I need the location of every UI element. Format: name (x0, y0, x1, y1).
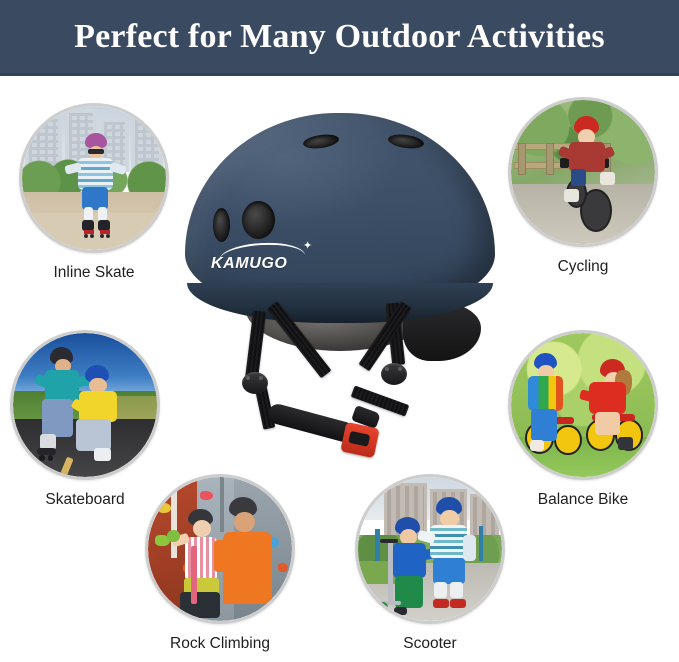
brand-logo: ✦ KAMUGO (211, 241, 331, 277)
activity-label-rock-climbing: Rock Climbing (145, 635, 295, 653)
activity-label-skateboard: Skateboard (10, 491, 160, 509)
logo-star-icon: ✦ (303, 241, 312, 252)
activity-cycling: Cycling (508, 97, 658, 276)
activity-label-scooter: Scooter (355, 635, 505, 653)
buckle-slot (348, 431, 370, 447)
activity-photo-skateboard (10, 330, 160, 480)
product-helmet-image: ✦ KAMUGO (175, 95, 505, 485)
strap-y-adjuster-front (242, 372, 268, 394)
activity-photo-balance-bike (508, 330, 658, 480)
activity-inline-skate: Inline Skate (19, 103, 169, 282)
activity-photo-rock-climbing (145, 474, 295, 624)
activity-label-cycling: Cycling (508, 258, 658, 276)
quick-release-buckle (340, 422, 379, 458)
helmet-vent-side-rear (242, 201, 275, 239)
page-title: Perfect for Many Outdoor Activities (74, 20, 605, 54)
helmet-vent-side-front (213, 208, 230, 242)
activity-photo-scooter (355, 474, 505, 624)
helmet-vent-crown-right (387, 133, 424, 151)
activity-label-inline-skate: Inline Skate (19, 264, 169, 282)
activity-photo-cycling (508, 97, 658, 247)
chin-strap-front-upper (245, 310, 266, 381)
activity-label-balance-bike: Balance Bike (508, 491, 658, 509)
brand-name: KAMUGO (211, 255, 287, 273)
header-banner: Perfect for Many Outdoor Activities (0, 0, 679, 76)
activity-rock-climbing: Rock Climbing (145, 474, 295, 653)
activity-balance-bike: Balance Bike (508, 330, 658, 509)
helmet-vent-crown-left (302, 133, 339, 151)
strap-y-adjuster-rear (381, 363, 407, 385)
activity-skateboard: Skateboard (10, 330, 160, 509)
activity-photo-inline-skate (19, 103, 169, 253)
activity-scooter: Scooter (355, 474, 505, 653)
